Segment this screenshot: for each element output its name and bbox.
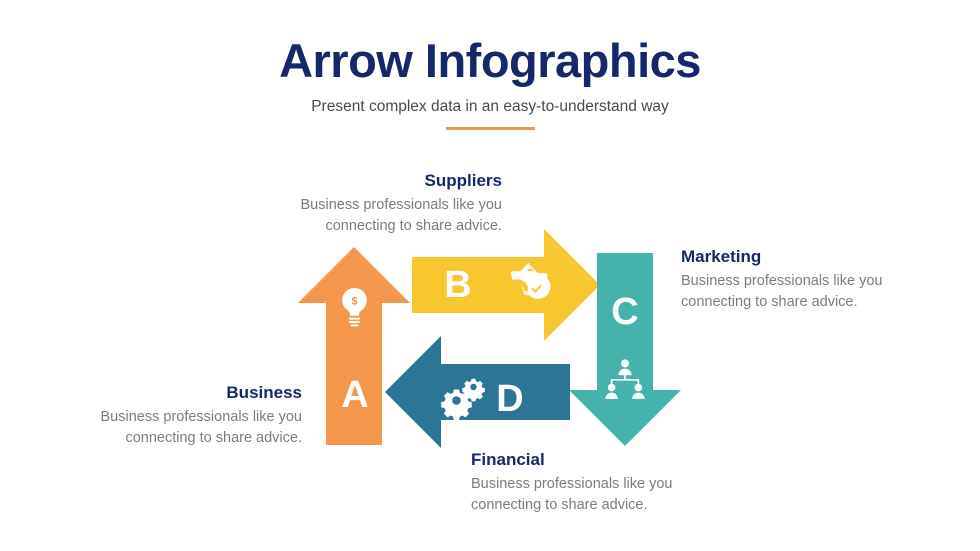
svg-text:$: $ bbox=[351, 296, 357, 308]
arrow-a-letter: A bbox=[320, 376, 390, 414]
marketing-title: Marketing bbox=[681, 246, 951, 267]
marketing-body: Business professionals like you connecti… bbox=[681, 271, 951, 312]
suppliers-title: Suppliers bbox=[240, 170, 502, 191]
arrow-d-letter: D bbox=[482, 380, 538, 418]
text-block-marketing: Marketing Business professionals like yo… bbox=[681, 246, 951, 312]
slide-canvas: Arrow Infographics Present complex data … bbox=[0, 0, 980, 551]
text-block-business: Business Business professionals like you… bbox=[40, 382, 302, 448]
financial-body: Business professionals like you connecti… bbox=[471, 474, 741, 515]
business-body: Business professionals like you connecti… bbox=[40, 407, 302, 448]
suppliers-body: Business professionals like you connecti… bbox=[240, 195, 502, 236]
financial-title: Financial bbox=[471, 449, 741, 470]
text-block-suppliers: Suppliers Business professionals like yo… bbox=[240, 170, 502, 236]
arrow-b-letter: B bbox=[430, 266, 486, 304]
business-title: Business bbox=[40, 382, 302, 403]
arrow-c-letter: C bbox=[590, 293, 660, 331]
text-block-financial: Financial Business professionals like yo… bbox=[471, 449, 741, 515]
